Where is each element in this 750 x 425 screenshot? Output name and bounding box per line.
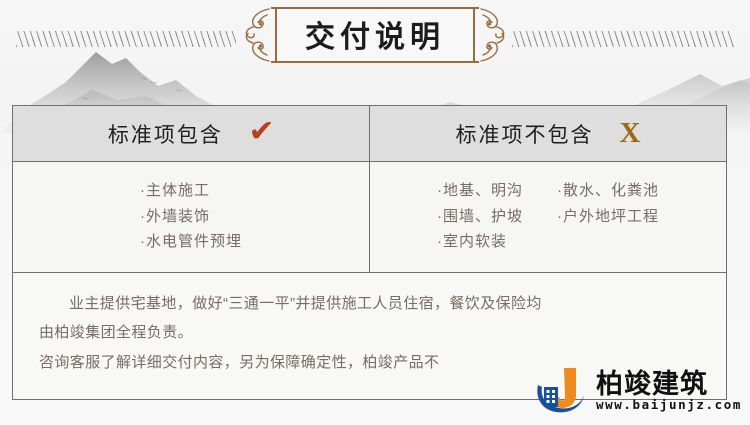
watermark-url: www.baijunjz.com <box>596 399 742 412</box>
column-header-label: 标准项不包含 <box>456 119 594 149</box>
x-mark-icon: X <box>620 119 641 148</box>
delivery-notice-page: 〜 〜 〜 〜 交付说明 <box>0 0 750 425</box>
table-header-cell-included: 标准项包含 ✔ <box>13 106 370 161</box>
page-header: 交付说明 <box>0 0 750 72</box>
note-line-1: 业主提供宅基地，做好“三通一平”并提供施工人员住宿，餐饮及保险均 <box>39 289 700 318</box>
list-item: ·散水、化粪池 <box>557 180 659 203</box>
included-items-cell: ·主体施工 ·外墙装饰 ·水电管件预埋 <box>13 162 370 272</box>
title-banner: 交付说明 <box>245 6 505 64</box>
diagonal-hatch-rule-icon <box>16 31 236 47</box>
page-title: 交付说明 <box>305 12 445 56</box>
list-item: ·主体施工 <box>140 180 242 203</box>
bird-icon: 〜 <box>82 96 89 103</box>
bird-icon: 〜 <box>140 76 147 83</box>
note-line-2: 由柏竣集团全程负责。 <box>39 318 700 347</box>
list-item: ·围墙、护坡 <box>437 206 523 229</box>
table-note-row: 业主提供宅基地，做好“三通一平”并提供施工人员住宿，餐饮及保险均 由柏竣集团全程… <box>13 273 726 399</box>
list-item: ·外墙装饰 <box>140 206 242 229</box>
column-header-label: 标准项包含 <box>108 119 223 149</box>
check-mark-icon: ✔ <box>248 117 274 147</box>
diagonal-hatch-rule-icon <box>512 31 734 47</box>
cloud-scroll-ornament-icon <box>245 7 271 63</box>
included-items-list: ·主体施工 ·外墙装饰 ·水电管件预埋 <box>140 180 242 254</box>
table-header-cell-excluded: 标准项不包含 X <box>370 106 726 161</box>
list-item: ·户外地坪工程 <box>557 206 659 229</box>
bird-icon: 〜 <box>150 80 157 87</box>
table-items-row: ·主体施工 ·外墙装饰 ·水电管件预埋 ·地基、明沟 ·围墙、护坡 ·室内软装 … <box>13 162 726 273</box>
list-item: ·地基、明沟 <box>437 180 523 203</box>
excluded-items-list-a: ·地基、明沟 ·围墙、护坡 ·室内软装 <box>437 180 523 254</box>
table-header-row: 标准项包含 ✔ 标准项不包含 X <box>13 106 726 162</box>
list-item: ·水电管件预埋 <box>140 231 242 254</box>
cloud-scroll-ornament-icon <box>479 7 505 63</box>
excluded-items-cell: ·地基、明沟 ·围墙、护坡 ·室内软装 ·散水、化粪池 ·户外地坪工程 <box>370 162 726 272</box>
excluded-items-columns: ·地基、明沟 ·围墙、护坡 ·室内软装 ·散水、化粪池 ·户外地坪工程 <box>437 180 659 254</box>
note-line-3: 咨询客服了解详细交付内容，另为保障确定性，柏竣产品不 <box>39 348 700 377</box>
delivery-scope-table: 标准项包含 ✔ 标准项不包含 X ·主体施工 ·外墙装饰 ·水电管件预埋 <box>12 105 727 400</box>
title-frame: 交付说明 <box>271 7 479 63</box>
list-item: ·室内软装 <box>437 231 523 254</box>
bird-icon: 〜 <box>176 88 183 95</box>
delivery-note: 业主提供宅基地，做好“三通一平”并提供施工人员住宿，餐饮及保险均 由柏竣集团全程… <box>13 273 726 399</box>
excluded-items-list-b: ·散水、化粪池 ·户外地坪工程 <box>557 180 659 229</box>
